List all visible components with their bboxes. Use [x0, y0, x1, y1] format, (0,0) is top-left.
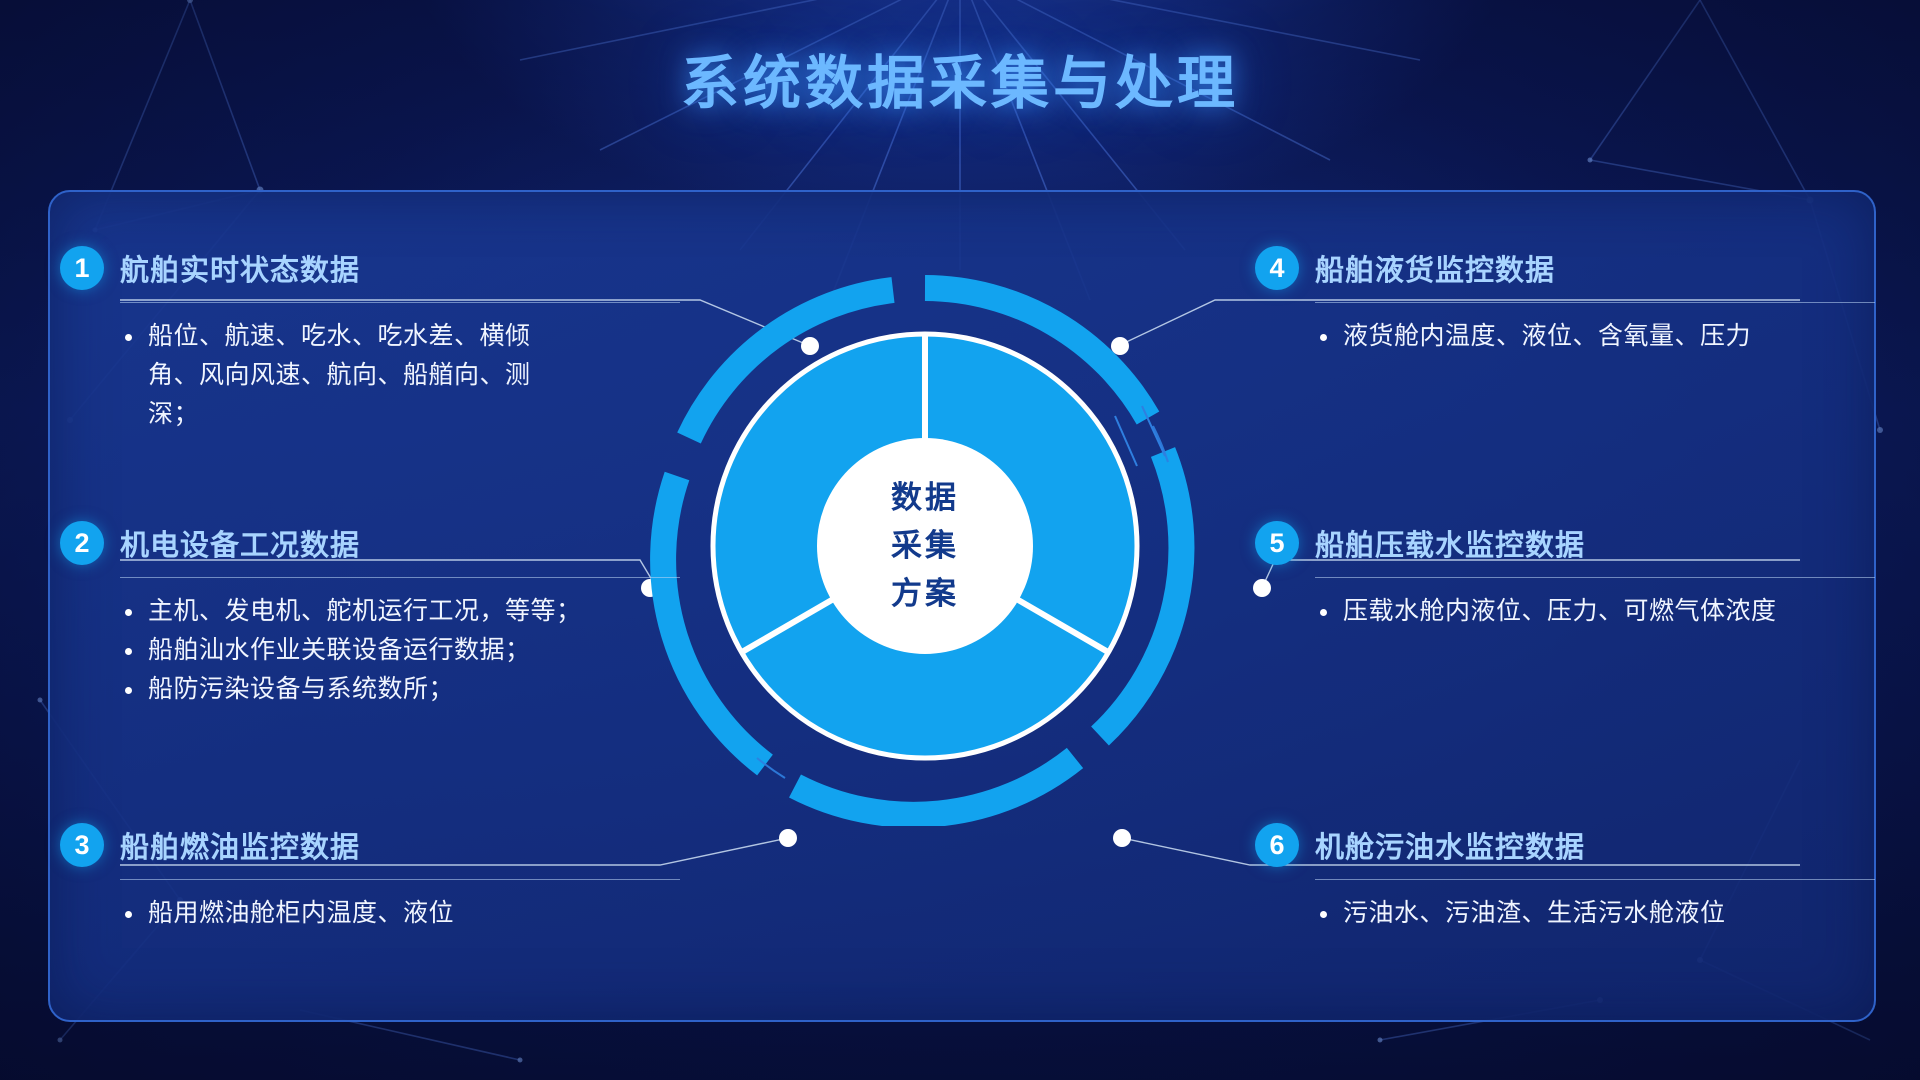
donut-center-line-1: 数据 — [891, 474, 959, 522]
section-items-6: 污油水、污油渣、生活污水舱液位 — [1317, 894, 1875, 933]
donut-center-line-2: 采集 — [891, 522, 959, 570]
section-block-5[interactable]: 5 船舶压载水监控数据 压载水舱内液位、压力、可燃气体浓度 — [1255, 520, 1875, 631]
donut-diagram: 数据 采集 方案 — [645, 266, 1205, 826]
list-item: 污油水、污油渣、生活污水舱液位 — [1317, 894, 1875, 933]
section-number-badge-2: 2 — [60, 521, 104, 565]
list-item: 船舶汕水作业关联设备运行数据； — [122, 631, 680, 670]
section-block-2[interactable]: 2 机电设备工况数据 主机、发电机、舵机运行工况，等等； 船舶汕水作业关联设备运… — [60, 520, 680, 709]
page-title: 系统数据采集与处理 — [0, 36, 1920, 120]
list-item: 液货舱内温度、液位、含氧量、压力 — [1317, 317, 1875, 356]
section-block-1[interactable]: 1 航舶实时状态数据 船位、航速、吃水、吃水差、横倾角、风向风速、航向、船艏向、… — [60, 245, 680, 434]
list-item: 压载水舱内液位、压力、可燃气体浓度 — [1317, 592, 1875, 631]
section-items-2: 主机、发电机、舵机运行工况，等等； 船舶汕水作业关联设备运行数据； 船防污染设备… — [122, 592, 680, 709]
section-number-badge-4: 4 — [1255, 246, 1299, 290]
section-divider-1 — [120, 302, 680, 303]
section-title-4: 船舶液货监控数据 — [1315, 247, 1555, 289]
list-item: 船用燃油舱柜内温度、液位 — [122, 894, 680, 933]
section-header-2: 2 机电设备工况数据 — [60, 520, 680, 566]
section-block-6[interactable]: 6 机舱污油水监控数据 污油水、污油渣、生活污水舱液位 — [1255, 822, 1875, 933]
section-header-4: 4 船舶液货监控数据 — [1255, 245, 1875, 291]
section-number-badge-3: 3 — [60, 823, 104, 867]
section-number-badge-1: 1 — [60, 246, 104, 290]
section-divider-2 — [120, 577, 680, 578]
section-title-5: 船舶压载水监控数据 — [1315, 522, 1585, 564]
section-title-6: 机舱污油水监控数据 — [1315, 824, 1585, 866]
list-item: 船防污染设备与系统数所； — [122, 670, 680, 709]
section-header-5: 5 船舶压载水监控数据 — [1255, 520, 1875, 566]
section-items-3: 船用燃油舱柜内温度、液位 — [122, 894, 680, 933]
section-items-5: 压载水舱内液位、压力、可燃气体浓度 — [1317, 592, 1875, 631]
list-item: 船位、航速、吃水、吃水差、横倾角、风向风速、航向、船艏向、测深； — [122, 317, 548, 434]
section-block-4[interactable]: 4 船舶液货监控数据 液货舱内温度、液位、含氧量、压力 — [1255, 245, 1875, 356]
section-header-3: 3 船舶燃油监控数据 — [60, 822, 680, 868]
section-title-3: 船舶燃油监控数据 — [120, 824, 360, 866]
donut-center-label: 数据 采集 方案 — [891, 474, 959, 618]
section-divider-3 — [120, 879, 680, 880]
list-item: 主机、发电机、舵机运行工况，等等； — [122, 592, 680, 631]
section-items-4: 液货舱内温度、液位、含氧量、压力 — [1317, 317, 1875, 356]
donut-center-line-3: 方案 — [891, 570, 959, 618]
section-items-1: 船位、航速、吃水、吃水差、横倾角、风向风速、航向、船艏向、测深； — [122, 317, 680, 434]
section-divider-4 — [1315, 302, 1875, 303]
section-header-6: 6 机舱污油水监控数据 — [1255, 822, 1875, 868]
section-divider-5 — [1315, 577, 1875, 578]
section-number-badge-6: 6 — [1255, 823, 1299, 867]
section-header-1: 1 航舶实时状态数据 — [60, 245, 680, 291]
section-divider-6 — [1315, 879, 1875, 880]
section-block-3[interactable]: 3 船舶燃油监控数据 船用燃油舱柜内温度、液位 — [60, 822, 680, 933]
section-title-2: 机电设备工况数据 — [120, 522, 360, 564]
section-title-1: 航舶实时状态数据 — [120, 247, 360, 289]
section-number-badge-5: 5 — [1255, 521, 1299, 565]
